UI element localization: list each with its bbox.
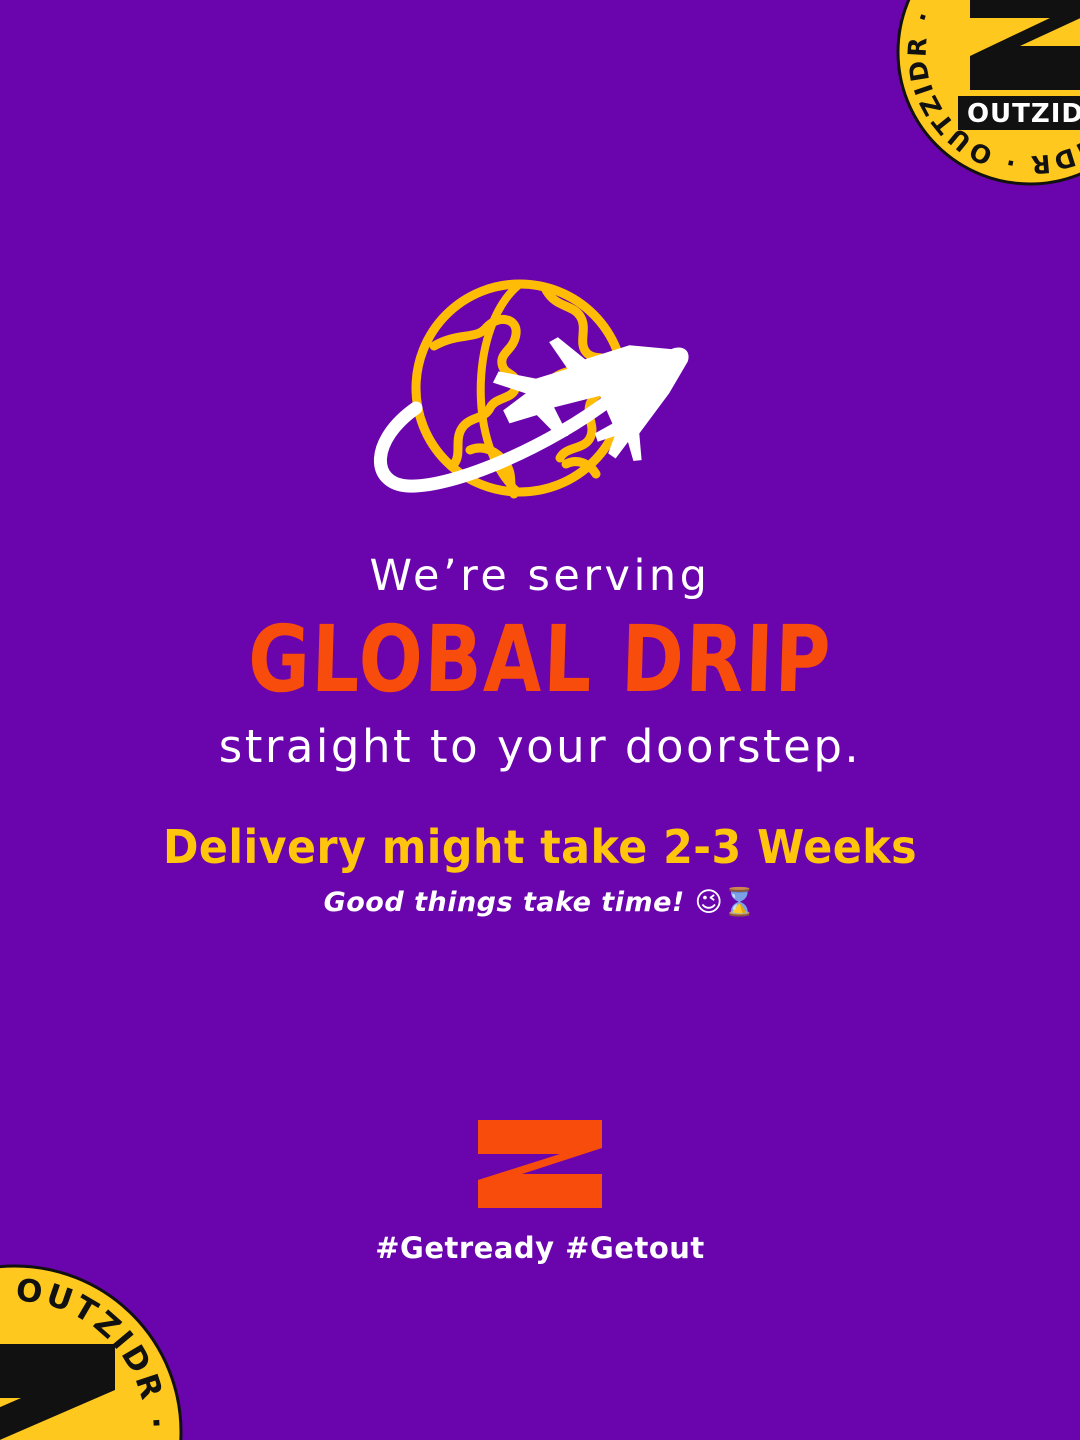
- delivery-reassurance-text: Good things take time!: [324, 887, 685, 918]
- brand-z-logo: [476, 1118, 604, 1210]
- svg-text:OUTZIDR: OUTZIDR: [967, 99, 1080, 129]
- delivery-notice: Delivery might take 2-3 Weeks Good thing…: [0, 818, 1080, 926]
- hero-illustration: [350, 268, 720, 523]
- wink-hourglass-emoji: 😉⌛: [695, 887, 757, 918]
- headline-subtitle: straight to your doorstep.: [0, 717, 1080, 777]
- delivery-time-text: Delivery might take 2-3 Weeks: [38, 818, 1042, 876]
- outzidr-stamp-top-right: OUTZIDR · OUTZIDR · OUTZIDR · OUTZIDR · …: [892, 0, 1080, 190]
- poster-canvas: We’re serving GLOBAL DRIP straight to yo…: [0, 0, 1080, 1440]
- headline-block: We’re serving GLOBAL DRIP straight to yo…: [0, 545, 1080, 777]
- page-title: GLOBAL DRIP: [96, 609, 985, 711]
- headline-eyebrow: We’re serving: [0, 545, 1080, 607]
- footer-brand: #Getready #Getout: [0, 1118, 1080, 1265]
- outzidr-stamp-bottom-left: OUTZIDR · OUTZIDR · OUTZIDR · OUTZIDR · …: [0, 1260, 188, 1440]
- stamp-center-word-top-right: OUTZIDR: [958, 96, 1080, 130]
- delivery-reassurance: Good things take time! 😉⌛: [0, 880, 1080, 926]
